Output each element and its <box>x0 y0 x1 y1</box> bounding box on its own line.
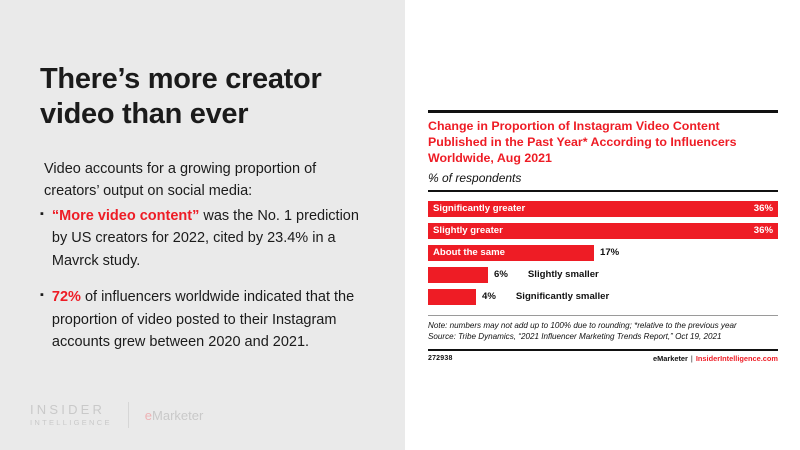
table-row: About the same 17% <box>428 245 778 261</box>
left-panel: There’s more creator video than ever Vid… <box>0 0 405 450</box>
chart-top-rule <box>428 110 778 113</box>
bar-slightly-smaller <box>428 267 488 283</box>
bar-category-label: Slightly smaller <box>528 269 599 280</box>
bar-value-label: 36% <box>754 225 778 236</box>
bar-significantly-smaller <box>428 289 476 305</box>
note-rule <box>428 315 778 316</box>
footer-rule <box>428 349 778 351</box>
insider-intelligence-logo: INSIDER INTELLIGENCE <box>30 403 112 428</box>
emarketer-logo-rest: Marketer <box>152 408 203 423</box>
bullet-highlight: “More video content” <box>52 208 199 224</box>
brand-logos: INSIDER INTELLIGENCE eMarketer <box>30 402 203 428</box>
chart-subtitle: % of respondents <box>428 171 778 185</box>
chart-brand: eMarketer|InsiderIntelligence.com <box>653 354 778 363</box>
insider-logo-line1: INSIDER <box>30 403 105 418</box>
bar-significantly-greater: Significantly greater 36% <box>428 201 778 217</box>
bullet-marker-icon: ▪ <box>40 287 44 304</box>
emarketer-logo-e: e <box>145 408 152 423</box>
bullet-rest: of influencers worldwide indicated that … <box>52 289 354 350</box>
table-row: 6% Slightly smaller <box>428 267 778 283</box>
chart-footer: 272938 eMarketer|InsiderIntelligence.com <box>428 354 778 363</box>
list-item: ▪ “More video content” was the No. 1 pre… <box>40 205 380 272</box>
bar-chart: Significantly greater 36% Slightly great… <box>428 201 778 305</box>
right-panel: Change in Proportion of Instagram Video … <box>405 0 800 450</box>
chart-card: Change in Proportion of Instagram Video … <box>428 110 778 363</box>
chart-note: Note: numbers may not add up to 100% due… <box>428 320 778 343</box>
insider-logo-line2: INTELLIGENCE <box>30 418 112 428</box>
chart-title: Change in Proportion of Instagram Video … <box>428 119 778 167</box>
bar-category-label: Significantly greater <box>428 203 525 214</box>
bullet-marker-icon: ▪ <box>40 206 44 223</box>
emarketer-logo: eMarketer <box>145 408 204 423</box>
bar-value-label: 17% <box>600 247 619 258</box>
table-row: Slightly greater 36% <box>428 223 778 239</box>
bar-slightly-greater: Slightly greater 36% <box>428 223 778 239</box>
bullet-text: 72% of influencers worldwide indicated t… <box>52 286 368 353</box>
bullet-list: ▪ “More video content” was the No. 1 pre… <box>40 205 380 368</box>
bar-about-the-same: About the same <box>428 245 594 261</box>
bar-category-label: About the same <box>428 247 505 258</box>
table-row: Significantly greater 36% <box>428 201 778 217</box>
table-row: 4% Significantly smaller <box>428 289 778 305</box>
chart-subtitle-rule <box>428 190 778 192</box>
chart-brand-emarketer: eMarketer <box>653 354 688 363</box>
list-item: ▪ 72% of influencers worldwide indicated… <box>40 286 380 353</box>
chart-brand-separator: | <box>691 354 693 363</box>
bullet-text: “More video content” was the No. 1 predi… <box>52 205 368 272</box>
bar-value-label: 6% <box>494 269 508 280</box>
bar-category-label: Slightly greater <box>428 225 503 236</box>
chart-brand-domain[interactable]: InsiderIntelligence.com <box>696 354 778 363</box>
logo-divider <box>128 402 129 428</box>
slide: There’s more creator video than ever Vid… <box>0 0 800 450</box>
bar-category-label: Significantly smaller <box>516 291 609 302</box>
bullet-highlight: 72% <box>52 289 81 305</box>
bar-value-label: 4% <box>482 291 496 302</box>
page-title: There’s more creator video than ever <box>40 62 380 133</box>
bar-value-label: 36% <box>754 203 778 214</box>
chart-id: 272938 <box>428 355 453 362</box>
intro-paragraph: Video accounts for a growing proportion … <box>44 158 374 203</box>
